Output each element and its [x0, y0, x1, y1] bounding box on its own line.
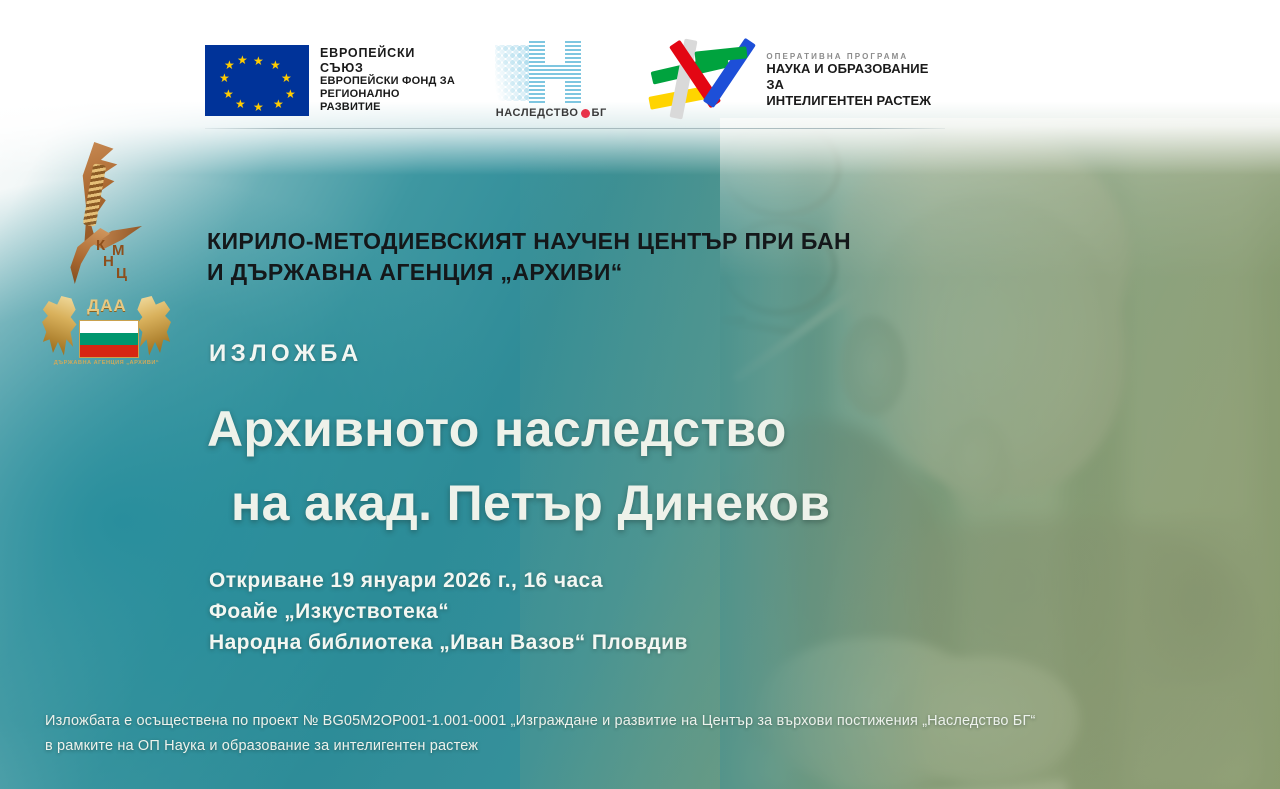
state-archives-agency-emblem: ДАА ДЪРЖАВНА АГЕНЦИЯ „АРХИВИ“ [35, 292, 178, 378]
page-title-line-2: на акад. Петър Динеков [231, 466, 1007, 540]
funding-disclaimer-line-2: в рамките на ОП Наука и образование за и… [45, 734, 1235, 759]
funding-logo-band: ★ ★ ★ ★ ★ ★ ★ ★ ★ ★ ★ ★ ЕВРОПЕЙСКИ СЪЮЗ … [205, 30, 945, 130]
nasledstvo-letter-h [529, 41, 581, 103]
lion-left-icon [37, 296, 79, 358]
event-venue-library: Народна библиотека „Иван Вазов“ Пловдив [209, 627, 929, 658]
nasledstvo-word-left: НАСЛЕДСТВО [496, 107, 579, 119]
eu-flag-icon: ★ ★ ★ ★ ★ ★ ★ ★ ★ ★ ★ ★ [205, 45, 309, 116]
funding-disclaimer: Изложбата е осъществена по проект № BG05… [45, 709, 1235, 759]
event-details-block: Откриване 19 януари 2026 г., 16 часа Фоа… [209, 565, 929, 658]
nasledstvo-word-right: БГ [592, 107, 607, 119]
organizers-block: КИРИЛО-МЕТОДИЕВСКИЯТ НАУЧЕН ЦЕНТЪР ПРИ Б… [207, 226, 887, 288]
kmnc-letters: К М Н Ц [96, 238, 148, 286]
kmnc-letter-1: К [96, 238, 105, 253]
nasledstvo-wordmark: НАСЛЕДСТВО БГ [496, 107, 607, 119]
page-title-line-1: Архивното наследство [207, 392, 1007, 466]
op-logo-line2: ИНТЕЛИГЕНТЕН РАСТЕЖ [766, 93, 945, 109]
funding-disclaimer-line-1: Изложбата е осъществена по проект № BG05… [45, 709, 1235, 734]
kmnc-letter-4: Ц [116, 266, 127, 281]
eu-flag-logo: ★ ★ ★ ★ ★ ★ ★ ★ ★ ★ ★ ★ ЕВРОПЕЙСКИ СЪЮЗ … [205, 45, 459, 116]
eu-logo-text: ЕВРОПЕЙСКИ СЪЮЗ ЕВРОПЕЙСКИ ФОНД ЗА РЕГИО… [320, 46, 459, 114]
op-logo-text: ОПЕРАТИВНА ПРОГРАМА НАУКА И ОБРАЗОВАНИЕ … [766, 52, 945, 108]
nasledstvo-h-icon [495, 41, 607, 103]
eu-logo-line1: ЕВРОПЕЙСКИ СЪЮЗ [320, 46, 459, 76]
op-logo-eyebrow: ОПЕРАТИВНА ПРОГРАМА [766, 52, 945, 62]
header-divider [205, 128, 945, 129]
event-opening-datetime: Откриване 19 януари 2026 г., 16 часа [209, 565, 929, 596]
bulgarian-flag-icon [79, 320, 139, 358]
nasledstvo-dot-icon [581, 109, 590, 118]
kmnc-letter-3: Н [103, 254, 114, 269]
kmnc-letter-2: М [112, 243, 125, 258]
eu-logo-line3: РЕГИОНАЛНО РАЗВИТИЕ [320, 88, 459, 114]
exhibition-kicker: ИЗЛОЖБА [209, 340, 363, 368]
page-title: Архивното наследство на акад. Петър Дине… [207, 392, 1007, 540]
op-logo-line1: НАУКА И ОБРАЗОВАНИЕ ЗА [766, 61, 945, 92]
op-ribbons-icon [647, 41, 757, 119]
organizers-line-1: КИРИЛО-МЕТОДИЕВСКИЯТ НАУЧЕН ЦЕНТЪР ПРИ Б… [207, 226, 887, 257]
daa-caption: ДЪРЖАВНА АГЕНЦИЯ „АРХИВИ“ [35, 360, 178, 366]
lion-right-icon [134, 296, 176, 358]
organizers-line-2: И ДЪРЖАВНА АГЕНЦИЯ „АРХИВИ“ [207, 257, 887, 288]
event-venue-hall: Фоайе „Изкуствотека“ [209, 596, 929, 627]
nasledstvo-bg-logo: НАСЛЕДСТВО БГ [495, 41, 607, 119]
daa-acronym: ДАА [79, 294, 135, 318]
kmnc-quill-emblem: К М Н Ц [58, 142, 146, 287]
poster-root: ★ ★ ★ ★ ★ ★ ★ ★ ★ ★ ★ ★ ЕВРОПЕЙСКИ СЪЮЗ … [0, 0, 1280, 789]
op-science-education-logo: ОПЕРАТИВНА ПРОГРАМА НАУКА И ОБРАЗОВАНИЕ … [647, 41, 945, 119]
eu-logo-line2: ЕВРОПЕЙСКИ ФОНД ЗА [320, 75, 459, 88]
